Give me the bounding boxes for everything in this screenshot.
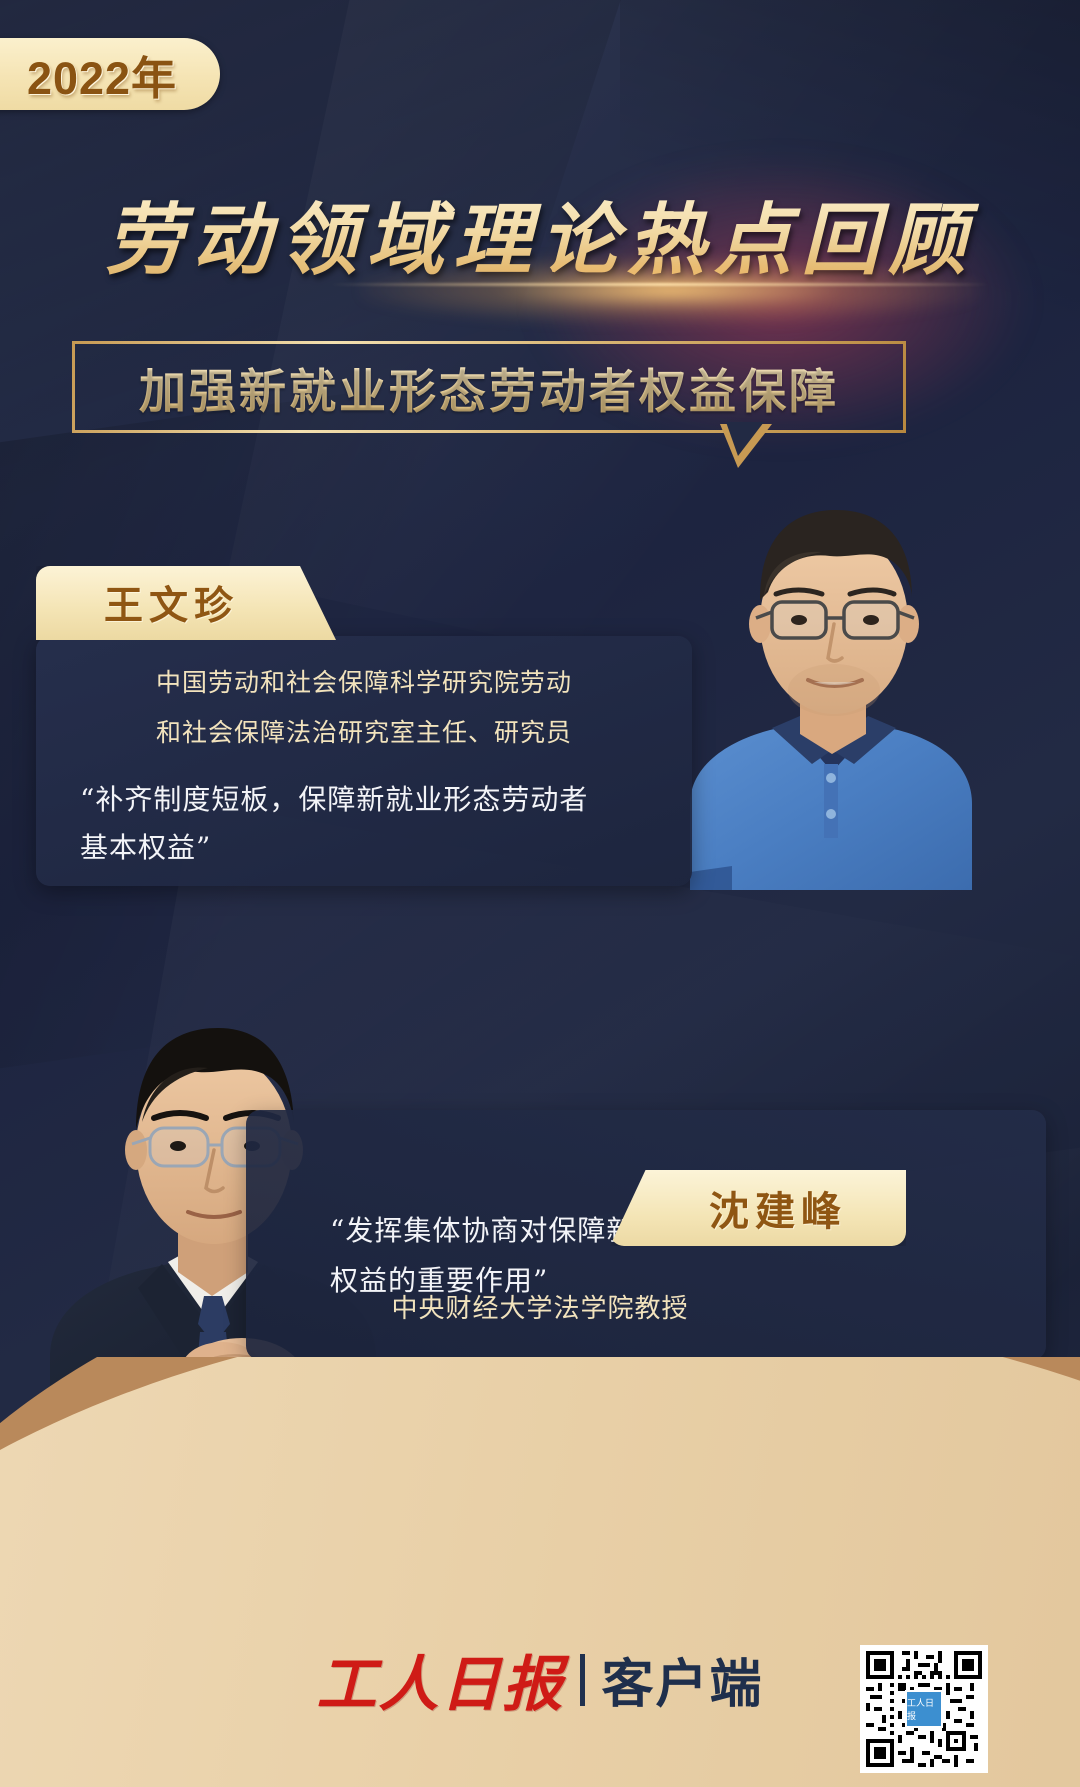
publication-name: 工人日报: [316, 1636, 564, 1723]
expert-1-portrait: [672, 472, 980, 890]
qr-code[interactable]: 工人日报: [860, 1645, 988, 1773]
expert-1-quote: “补齐制度短板，保障新就业形态劳动者 基本权益”: [80, 776, 680, 872]
expert-2-title: 中央财经大学法学院教授: [0, 1288, 1080, 1325]
year-badge: 2022年: [0, 38, 220, 110]
poster-root: 2022年 劳动领域理论热点回顾 加强新就业形态劳动者权益保障: [0, 0, 1080, 1787]
subtitle-bubble: 加强新就业形态劳动者权益保障: [72, 341, 906, 433]
expert-1-quote-line2: 基本权益”: [80, 824, 680, 872]
subtitle-label: 加强新就业形态劳动者权益保障: [139, 353, 839, 422]
expert-1-name: 王文珍: [36, 575, 239, 631]
expert-1-nametag: 王文珍: [36, 566, 336, 640]
subtitle-bubble-tail: [720, 424, 772, 468]
year-badge-label: 2022年: [13, 42, 177, 107]
expert-1-title: 中国劳动和社会保障科学研究院劳动 和社会保障法治研究室主任、研究员: [36, 658, 692, 758]
app-label: 客户端: [601, 1642, 763, 1717]
expert-1-quote-line1: “补齐制度短板，保障新就业形态劳动者: [80, 776, 680, 824]
title-gold-glow: [360, 255, 980, 325]
expert-2-name: 沈建峰: [669, 1179, 847, 1237]
expert-1-card: 中国劳动和社会保障科学研究院劳动 和社会保障法治研究室主任、研究员 “补齐制度短…: [36, 636, 692, 886]
expert-2-nametag: 沈建峰: [610, 1170, 906, 1246]
title-light-streak: [330, 283, 990, 286]
logo-divider: [580, 1654, 585, 1706]
expert-1-title-line1: 中国劳动和社会保障科学研究院劳动: [36, 658, 692, 708]
qr-center-logo: 工人日报: [905, 1690, 943, 1728]
expert-1-title-line2: 和社会保障法治研究室主任、研究员: [36, 708, 692, 758]
